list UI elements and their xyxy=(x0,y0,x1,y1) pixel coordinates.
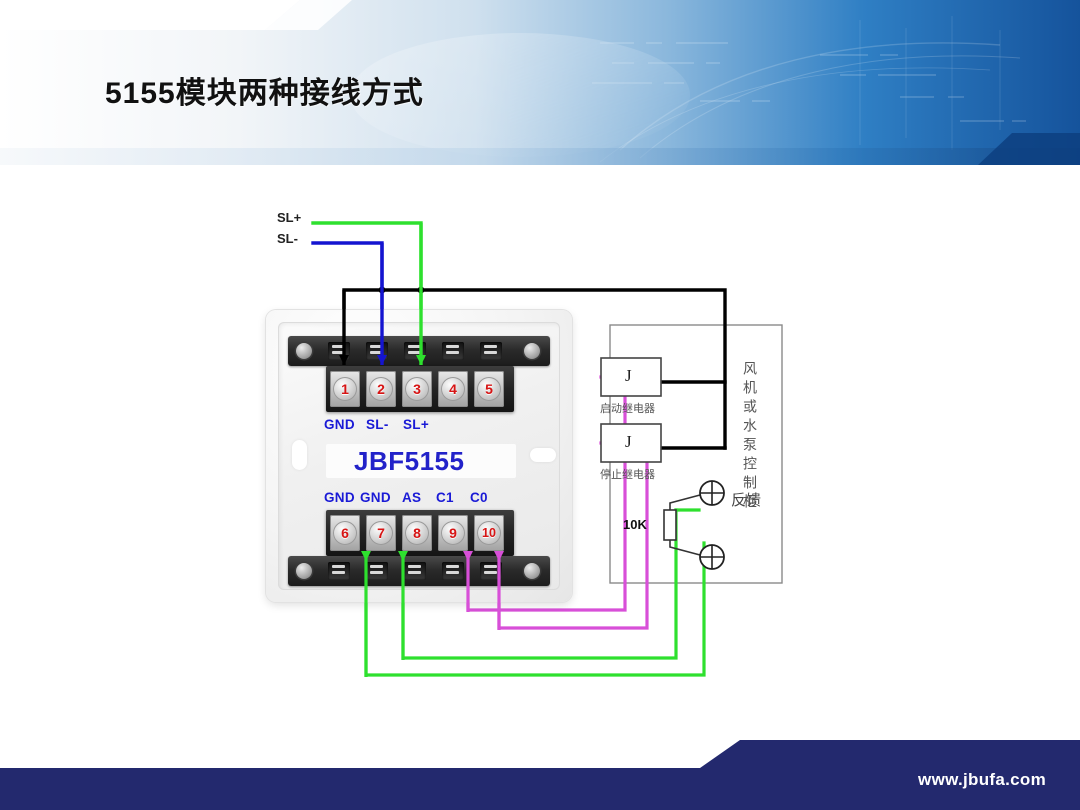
terminal-7-number: 7 xyxy=(366,515,396,551)
module-inner-face: 1 2 3 4 5 GND SL- SL+ JBF5155 GND GN xyxy=(278,322,560,590)
feedback-terminal-upper xyxy=(700,481,724,505)
relay-start-label: 启动继电器 xyxy=(600,400,655,416)
wire-slot-1 xyxy=(328,342,350,360)
wire-slot-6 xyxy=(328,562,350,580)
screw-bottom-right xyxy=(524,563,540,579)
terminal-10[interactable]: 10 xyxy=(474,515,504,551)
terminal-2[interactable]: 2 xyxy=(366,371,396,407)
wire-slot-2 xyxy=(366,342,388,360)
module-model-label: JBF5155 xyxy=(354,446,464,477)
terminal-1[interactable]: 1 xyxy=(330,371,360,407)
wire-slot-7 xyxy=(366,562,388,580)
wire-slot-5 xyxy=(480,342,502,360)
terminal-block-top: 1 2 3 4 5 xyxy=(326,366,514,412)
wire-slot-4 xyxy=(442,342,464,360)
screw-bottom-left xyxy=(296,563,312,579)
bus-label-sl-plus: SL+ xyxy=(277,210,301,225)
terminal-7-name: GND xyxy=(360,490,391,505)
screw-top-right xyxy=(524,343,540,359)
relay-stop-symbol: J xyxy=(625,432,632,452)
terminal-9[interactable]: 9 xyxy=(438,515,468,551)
wire-slot-10 xyxy=(480,562,502,580)
terminal-5[interactable]: 5 xyxy=(474,371,504,407)
terminal-9-name: C1 xyxy=(436,490,454,505)
jbf5155-module: 1 2 3 4 5 GND SL- SL+ JBF5155 GND GN xyxy=(266,310,572,602)
junction-dot-blue-black xyxy=(379,287,386,294)
cabinet-title-vertical: 风机或水泵控制柜 xyxy=(741,361,755,546)
relay-stop-label: 停止继电器 xyxy=(600,466,655,482)
wire-slot-9 xyxy=(442,562,464,580)
terminal-8-number: 8 xyxy=(402,515,432,551)
terminal-6-number: 6 xyxy=(330,515,360,551)
feedback-terminal-lower xyxy=(700,545,724,569)
page-title: 5155模块两种接线方式 xyxy=(105,68,424,112)
terminal-4[interactable]: 4 xyxy=(438,371,468,407)
slide-root: 5155模块两种接线方式 xyxy=(0,0,1080,810)
terminal-10-number: 10 xyxy=(474,515,504,551)
terminal-6[interactable]: 6 xyxy=(330,515,360,551)
terminal-4-number: 4 xyxy=(438,371,468,407)
bus-label-sl-minus: SL- xyxy=(277,231,298,246)
module-top-strip xyxy=(288,336,550,366)
junction-dot-green-black xyxy=(418,287,425,294)
terminal-2-name: SL- xyxy=(366,417,389,432)
terminal-10-name: C0 xyxy=(470,490,488,505)
screw-top-left xyxy=(296,343,312,359)
terminal-2-number: 2 xyxy=(366,371,396,407)
resistor-10k-body xyxy=(664,510,676,540)
terminal-7[interactable]: 7 xyxy=(366,515,396,551)
terminal-3-number: 3 xyxy=(402,371,432,407)
terminal-5-number: 5 xyxy=(474,371,504,407)
wire-slot-3 xyxy=(404,342,426,360)
vent-left xyxy=(292,440,307,470)
terminal-1-name: GND xyxy=(324,417,355,432)
terminal-8[interactable]: 8 xyxy=(402,515,432,551)
relay-start-symbol: J xyxy=(625,366,632,386)
resistor-10k-label: 10K xyxy=(623,517,647,532)
terminal-6-name: GND xyxy=(324,490,355,505)
terminal-3-name: SL+ xyxy=(403,417,429,432)
terminal-9-number: 9 xyxy=(438,515,468,551)
terminal-3[interactable]: 3 xyxy=(402,371,432,407)
footer-url[interactable]: www.jbufa.com xyxy=(0,770,1046,790)
terminal-block-bottom: 6 7 8 9 10 xyxy=(326,510,514,556)
terminal-1-number: 1 xyxy=(330,371,360,407)
vent-right xyxy=(530,448,556,462)
module-bottom-strip xyxy=(288,556,550,586)
terminal-8-name: AS xyxy=(402,490,421,505)
slide-header: 5155模块两种接线方式 xyxy=(0,0,1080,165)
wiring-diagram: SL+ SL- J J 启动继电器 停止继电器 10K 反馈 风机或水泵控制柜 xyxy=(0,165,1080,740)
wire-slot-8 xyxy=(404,562,426,580)
